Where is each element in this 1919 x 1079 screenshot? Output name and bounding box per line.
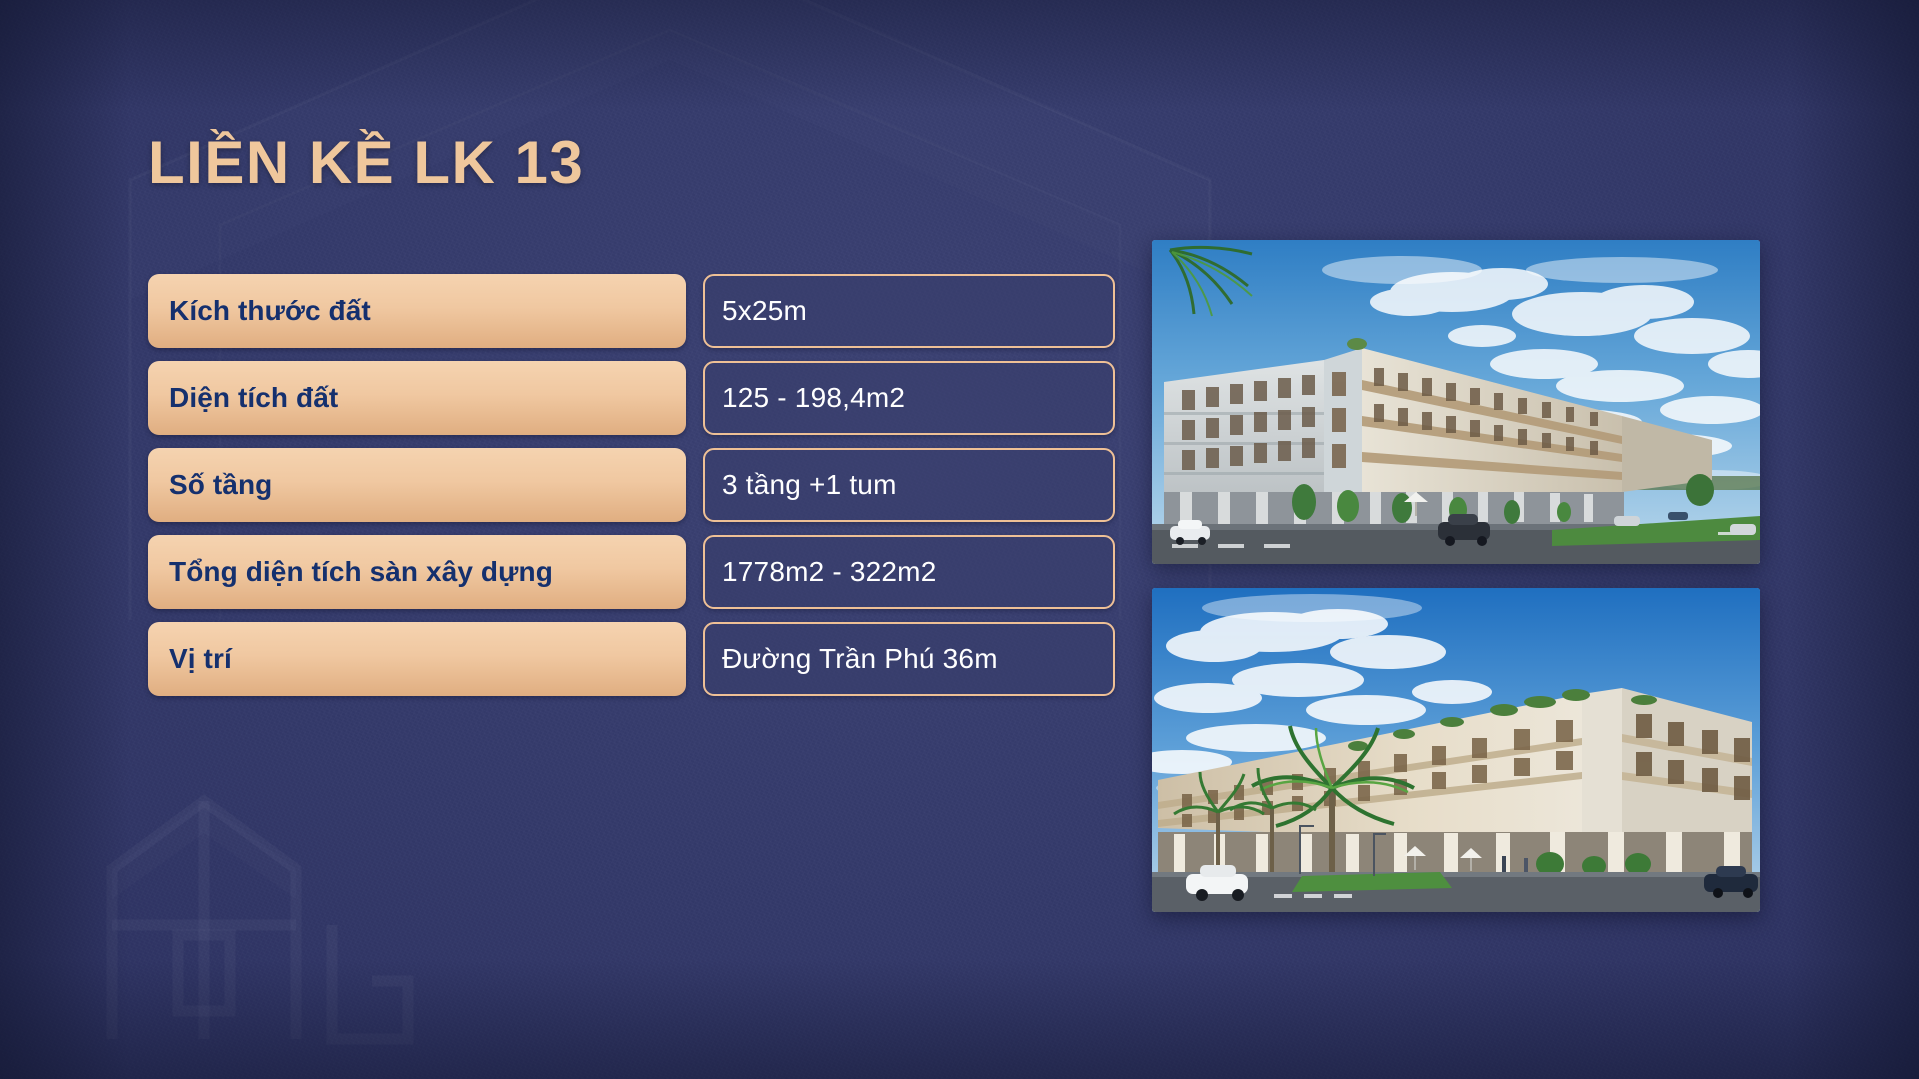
spec-label-dien-tich-dat: Diện tích đất (148, 361, 686, 435)
spec-label-vi-tri: Vị trí (148, 622, 686, 696)
render-shophouse-boulevard (1152, 588, 1760, 912)
spec-value-vi-tri: Đường Trần Phú 36m (703, 622, 1115, 696)
spec-label-kich-thuoc-dat: Kích thước đất (148, 274, 686, 348)
table-row: Vị trí Đường Trần Phú 36m (148, 622, 1108, 696)
spec-value-dien-tich-dat: 125 - 198,4m2 (703, 361, 1115, 435)
spec-value-kich-thuoc-dat: 5x25m (703, 274, 1115, 348)
page-title: LIỀN KỀ LK 13 (148, 128, 584, 197)
table-row: Số tầng 3 tầng +1 tum (148, 448, 1108, 522)
spec-label-so-tang: Số tầng (148, 448, 686, 522)
table-row: Kích thước đất 5x25m (148, 274, 1108, 348)
spec-table: Kích thước đất 5x25m Diện tích đất 125 -… (148, 274, 1108, 696)
spec-value-tong-dien-tich-san: 1778m2 - 322m2 (703, 535, 1115, 609)
house-g-logo-watermark (92, 749, 422, 1049)
render-gallery (1152, 240, 1760, 912)
table-row: Diện tích đất 125 - 198,4m2 (148, 361, 1108, 435)
slide-root: LIỀN KỀ LK 13 Kích thước đất 5x25m Diện … (0, 0, 1919, 1079)
render-shophouse-street-corner (1152, 240, 1760, 564)
spec-label-tong-dien-tich-san: Tổng diện tích sàn xây dựng (148, 535, 686, 609)
spec-value-so-tang: 3 tầng +1 tum (703, 448, 1115, 522)
table-row: Tổng diện tích sàn xây dựng 1778m2 - 322… (148, 535, 1108, 609)
